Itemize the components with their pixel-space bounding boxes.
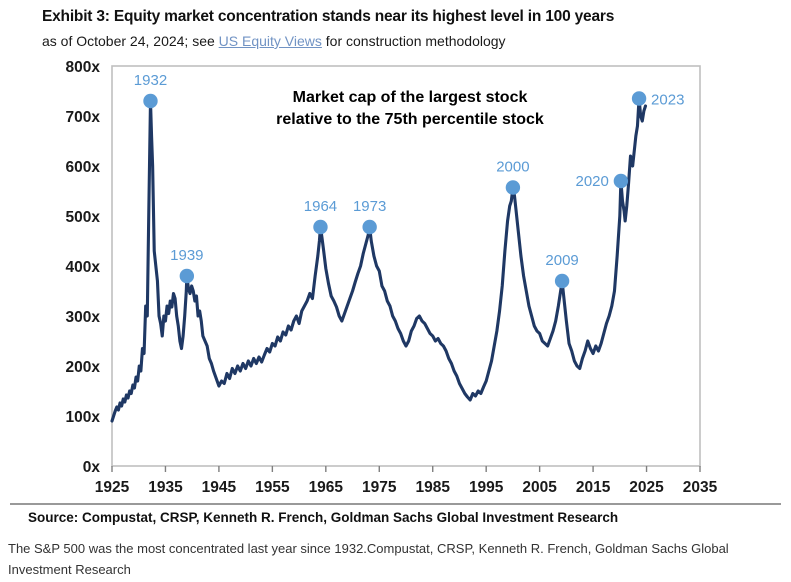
- us-equity-views-link[interactable]: US Equity Views: [219, 33, 322, 49]
- annotation-label-2020: 2020: [576, 173, 609, 190]
- annotation-label-1964: 1964: [304, 198, 337, 215]
- subtitle-prefix: as of October 24, 2024; see: [42, 33, 219, 49]
- footer-divider: [10, 503, 781, 505]
- annotation-label-1973: 1973: [353, 198, 386, 215]
- x-tick-1955: 1955: [255, 479, 290, 496]
- footnote-text: The S&P 500 was the most concentrated la…: [8, 538, 783, 580]
- callout-line-2: relative to the 75th percentile stock: [276, 111, 544, 128]
- source-line: Source: Compustat, CRSP, Kenneth R. Fren…: [28, 510, 618, 525]
- marker-1932: [143, 94, 157, 108]
- marker-2009: [555, 274, 569, 288]
- page-title: Exhibit 3: Equity market concentration s…: [42, 8, 614, 26]
- y-tick-500x: 500x: [66, 209, 101, 226]
- y-tick-200x: 200x: [66, 359, 101, 376]
- x-tick-2035: 2035: [683, 479, 718, 496]
- x-tick-1995: 1995: [469, 479, 504, 496]
- concentration-line-chart: 0x100x200x300x400x500x600x700x800x 19251…: [0, 58, 791, 510]
- x-tick-1925: 1925: [95, 479, 130, 496]
- y-tick-800x: 800x: [66, 59, 101, 76]
- x-tick-2025: 2025: [629, 479, 664, 496]
- y-tick-400x: 400x: [66, 259, 101, 276]
- chart-subtitle: as of October 24, 2024; see US Equity Vi…: [42, 33, 506, 49]
- marker-2000: [506, 180, 520, 194]
- marker-2020: [614, 174, 628, 188]
- y-tick-300x: 300x: [66, 309, 101, 326]
- annotation-label-2023: 2023: [651, 92, 684, 109]
- x-tick-1965: 1965: [309, 479, 344, 496]
- x-tick-2005: 2005: [522, 479, 557, 496]
- annotation-label-2000: 2000: [496, 159, 529, 176]
- y-axis-tick-labels: 0x100x200x300x400x500x600x700x800x: [66, 59, 101, 476]
- x-tick-2015: 2015: [576, 479, 611, 496]
- marker-1939: [180, 269, 194, 283]
- marker-1964: [313, 220, 327, 234]
- x-tick-1985: 1985: [415, 479, 450, 496]
- annotation-label-1939: 1939: [170, 247, 203, 264]
- y-tick-0x: 0x: [83, 459, 101, 476]
- marker-1973: [362, 220, 376, 234]
- x-tick-1975: 1975: [362, 479, 397, 496]
- annotation-label-2009: 2009: [545, 252, 578, 269]
- y-tick-600x: 600x: [66, 159, 101, 176]
- x-tick-1935: 1935: [148, 479, 183, 496]
- annotation-label-1932: 1932: [134, 72, 167, 89]
- chart-container: 0x100x200x300x400x500x600x700x800x 19251…: [0, 58, 791, 510]
- callout-line-1: Market cap of the largest stock: [293, 89, 528, 106]
- y-tick-100x: 100x: [66, 409, 101, 426]
- y-tick-700x: 700x: [66, 109, 101, 126]
- marker-2023: [632, 91, 646, 105]
- subtitle-suffix: for construction methodology: [322, 33, 506, 49]
- x-tick-1945: 1945: [202, 479, 237, 496]
